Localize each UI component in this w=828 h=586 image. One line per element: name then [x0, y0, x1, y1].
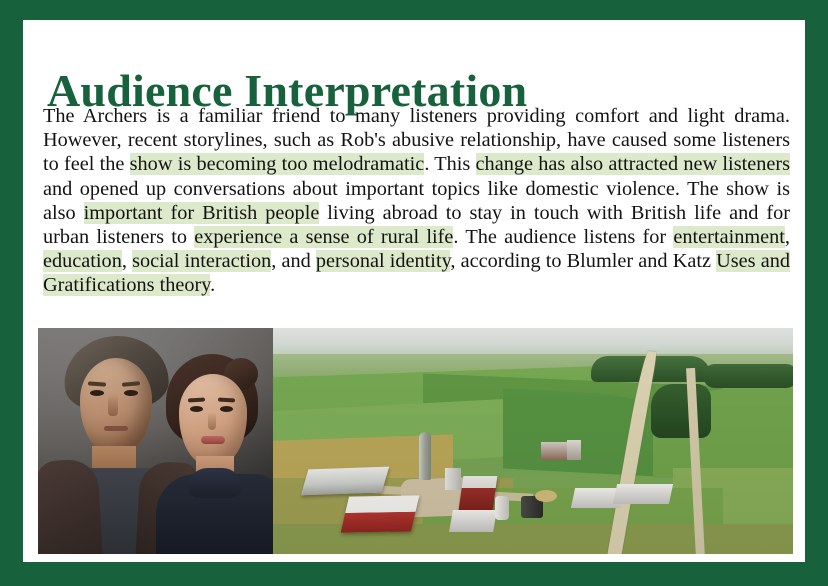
white-shed — [449, 510, 497, 532]
image-strip — [38, 328, 793, 554]
grain-silo — [419, 432, 431, 480]
treeline — [651, 384, 711, 438]
highlighted-phrase: entertainment — [673, 226, 785, 248]
woman-nose — [208, 412, 216, 430]
woman-lips — [201, 436, 225, 444]
highlighted-phrase: education — [43, 250, 122, 272]
portrait-photo — [38, 328, 273, 554]
man-jacket-left — [38, 458, 103, 554]
highlighted-phrase: experience a sense of rural life — [194, 226, 453, 248]
red-barn — [341, 495, 420, 532]
woman-eye-left — [190, 406, 203, 412]
body-text-run: , — [122, 250, 132, 272]
woman-collar — [188, 468, 242, 498]
man-mouth — [104, 426, 128, 431]
treeline — [703, 364, 793, 388]
body-text-run: . — [210, 274, 215, 296]
body-text-run: , — [785, 226, 790, 248]
red-barn — [459, 476, 498, 510]
man-nose — [108, 394, 118, 416]
body-text-run: . The audience listens for — [453, 226, 673, 248]
body-text-run: . This — [424, 153, 475, 175]
slide-canvas: Audience Interpretation The Archers is a… — [23, 20, 805, 562]
white-shed — [301, 467, 389, 496]
woman-eyebrow-right — [218, 398, 235, 403]
grain-pile — [535, 490, 557, 502]
slide-frame: Audience Interpretation The Archers is a… — [0, 0, 828, 586]
man-eye-left — [90, 390, 104, 396]
man-eye-right — [124, 390, 138, 396]
body-paragraph: The Archers is a familiar friend to many… — [43, 104, 790, 298]
highlighted-phrase: personal identity — [316, 250, 451, 272]
distant-farm-building — [567, 440, 581, 460]
white-shed — [613, 484, 673, 504]
highlighted-phrase: show is becoming too melodramatic — [130, 153, 425, 175]
highlighted-phrase: social interaction — [132, 250, 271, 272]
grain-silo — [445, 468, 461, 490]
grain-silo — [495, 496, 509, 520]
highlighted-phrase: change has also attracted new listeners — [476, 153, 790, 175]
aerial-farm-photo — [273, 328, 793, 554]
woman-eye-right — [220, 406, 233, 412]
body-text-run: , according to Blumler and Katz — [450, 250, 716, 272]
body-text-run: , and — [271, 250, 316, 272]
highlighted-phrase: important for British people — [84, 202, 320, 224]
